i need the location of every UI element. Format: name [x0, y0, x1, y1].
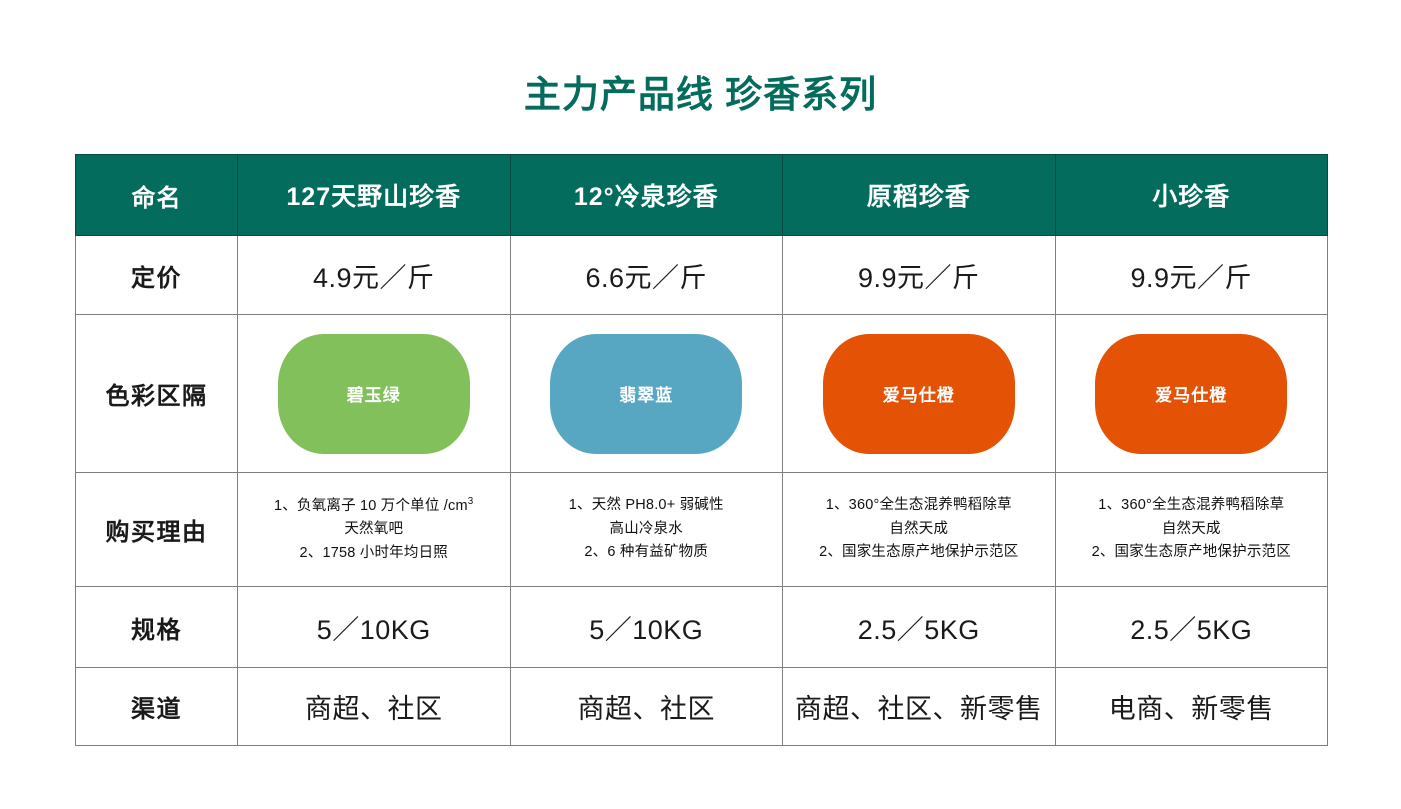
- cell-name-3: 原稻珍香: [783, 155, 1056, 236]
- reason-line: 1、负氧离子 10 万个单位 /cm3: [244, 494, 504, 518]
- reason-list-2: 1、天然 PH8.0+ 弱碱性 高山冷泉水 2、6 种有益矿物质: [511, 494, 783, 564]
- cell-reason-4: 1、360°全生态混养鸭稻除草 自然天成 2、国家生态原产地保护示范区: [1055, 473, 1328, 587]
- reason-line: 2、6 种有益矿物质: [517, 541, 777, 564]
- row-label-color: 色彩区隔: [76, 315, 238, 473]
- product-line-table-wrapper: 命名 127天野山珍香 12°冷泉珍香 原稻珍香 小珍香 定价 4.9元／斤 6…: [75, 154, 1327, 746]
- reason-line: 1、360°全生态混养鸭稻除草: [789, 494, 1049, 517]
- cell-spec-1: 5／10KG: [238, 587, 511, 668]
- table-row-price: 定价 4.9元／斤 6.6元／斤 9.9元／斤 9.9元／斤: [76, 236, 1328, 315]
- reason-line: 1、360°全生态混养鸭稻除草: [1062, 494, 1322, 517]
- cell-color-3: 爱马仕橙: [783, 315, 1056, 473]
- row-label-spec: 规格: [76, 587, 238, 668]
- reason-line: 高山冷泉水: [517, 518, 777, 541]
- cell-channel-4: 电商、新零售: [1055, 668, 1328, 746]
- reason-line: 自然天成: [1062, 518, 1322, 541]
- reason-line: 2、1758 小时年均日照: [244, 542, 504, 565]
- row-label-name: 命名: [76, 155, 238, 236]
- cell-name-1: 127天野山珍香: [238, 155, 511, 236]
- reason-list-4: 1、360°全生态混养鸭稻除草 自然天成 2、国家生态原产地保护示范区: [1056, 494, 1328, 564]
- color-pill-label-4: 爱马仕橙: [1155, 381, 1227, 406]
- reason-line: 天然氧吧: [244, 518, 504, 541]
- cell-channel-3: 商超、社区、新零售: [783, 668, 1056, 746]
- table-row-reason: 购买理由 1、负氧离子 10 万个单位 /cm3 天然氧吧 2、1758 小时年…: [76, 473, 1328, 587]
- color-pill-2: 翡翠蓝: [550, 334, 742, 454]
- cell-reason-2: 1、天然 PH8.0+ 弱碱性 高山冷泉水 2、6 种有益矿物质: [510, 473, 783, 587]
- cell-channel-1: 商超、社区: [238, 668, 511, 746]
- cell-channel-2: 商超、社区: [510, 668, 783, 746]
- reason-line: 自然天成: [789, 518, 1049, 541]
- slide-root: 主力产品线 珍香系列 命名 127天野山珍香 12°冷泉珍香 原稻珍香 小珍香: [0, 0, 1401, 809]
- cell-color-1: 碧玉绿: [238, 315, 511, 473]
- reason-line: 1、天然 PH8.0+ 弱碱性: [517, 494, 777, 517]
- table-row-name: 命名 127天野山珍香 12°冷泉珍香 原稻珍香 小珍香: [76, 155, 1328, 236]
- color-pill-label-3: 爱马仕橙: [883, 381, 955, 406]
- cell-name-2: 12°冷泉珍香: [510, 155, 783, 236]
- cell-price-1: 4.9元／斤: [238, 236, 511, 315]
- cell-reason-3: 1、360°全生态混养鸭稻除草 自然天成 2、国家生态原产地保护示范区: [783, 473, 1056, 587]
- cell-spec-4: 2.5／5KG: [1055, 587, 1328, 668]
- color-pill-1: 碧玉绿: [278, 334, 470, 454]
- reason-line: 2、国家生态原产地保护示范区: [789, 541, 1049, 564]
- product-line-table: 命名 127天野山珍香 12°冷泉珍香 原稻珍香 小珍香 定价 4.9元／斤 6…: [75, 154, 1328, 746]
- page-title: 主力产品线 珍香系列: [0, 64, 1401, 118]
- row-label-reason: 购买理由: [76, 473, 238, 587]
- table-row-color: 色彩区隔 碧玉绿 翡翠蓝 爱马仕橙: [76, 315, 1328, 473]
- row-label-channel: 渠道: [76, 668, 238, 746]
- color-pill-label-1: 碧玉绿: [347, 381, 401, 406]
- cell-name-4: 小珍香: [1055, 155, 1328, 236]
- cell-color-2: 翡翠蓝: [510, 315, 783, 473]
- cell-price-3: 9.9元／斤: [783, 236, 1056, 315]
- reason-line: 2、国家生态原产地保护示范区: [1062, 541, 1322, 564]
- cell-spec-3: 2.5／5KG: [783, 587, 1056, 668]
- cell-price-2: 6.6元／斤: [510, 236, 783, 315]
- color-pill-label-2: 翡翠蓝: [619, 381, 673, 406]
- reason-list-3: 1、360°全生态混养鸭稻除草 自然天成 2、国家生态原产地保护示范区: [783, 494, 1055, 564]
- table-row-spec: 规格 5／10KG 5／10KG 2.5／5KG 2.5／5KG: [76, 587, 1328, 668]
- color-pill-4: 爱马仕橙: [1095, 334, 1287, 454]
- cell-spec-2: 5／10KG: [510, 587, 783, 668]
- cell-price-4: 9.9元／斤: [1055, 236, 1328, 315]
- row-label-price: 定价: [76, 236, 238, 315]
- color-pill-3: 爱马仕橙: [823, 334, 1015, 454]
- table-row-channel: 渠道 商超、社区 商超、社区 商超、社区、新零售 电商、新零售: [76, 668, 1328, 746]
- reason-list-1: 1、负氧离子 10 万个单位 /cm3 天然氧吧 2、1758 小时年均日照: [238, 494, 510, 565]
- cell-color-4: 爱马仕橙: [1055, 315, 1328, 473]
- cell-reason-1: 1、负氧离子 10 万个单位 /cm3 天然氧吧 2、1758 小时年均日照: [238, 473, 511, 587]
